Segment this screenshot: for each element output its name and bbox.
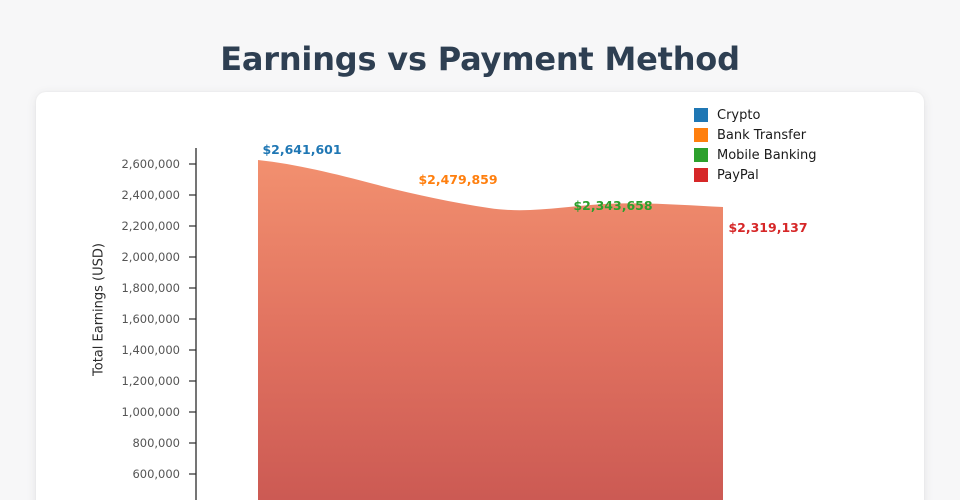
- legend-item-paypal[interactable]: PayPal: [694, 165, 914, 185]
- legend-swatch-icon: [694, 148, 708, 162]
- y-tick-label: 1,400,000: [60, 343, 180, 357]
- y-axis-tick-labels: 2,600,000 2,400,000 2,200,000 2,000,000 …: [48, 92, 180, 500]
- legend-item-bank-transfer[interactable]: Bank Transfer: [694, 125, 914, 145]
- chart-card: 2,600,000 2,400,000 2,200,000 2,000,000 …: [36, 92, 924, 500]
- y-axis-title: Total Earnings (USD): [92, 220, 107, 400]
- legend-label: Bank Transfer: [717, 128, 806, 143]
- data-label-paypal: $2,319,137: [728, 220, 807, 235]
- legend-label: Mobile Banking: [717, 148, 817, 163]
- y-tick-label: 800,000: [60, 436, 180, 450]
- legend-swatch-icon: [694, 168, 708, 182]
- page-title: Earnings vs Payment Method: [0, 40, 960, 78]
- legend-swatch-icon: [694, 128, 708, 142]
- y-tick-label: 1,000,000: [60, 405, 180, 419]
- y-tick-label: 2,000,000: [60, 250, 180, 264]
- legend-item-mobile-banking[interactable]: Mobile Banking: [694, 145, 914, 165]
- data-label-bank-transfer: $2,479,859: [418, 172, 497, 187]
- y-tick-label: 1,800,000: [60, 281, 180, 295]
- y-tick-label: 2,200,000: [60, 219, 180, 233]
- y-tick-label: 600,000: [60, 467, 180, 481]
- chart-screenshot: Earnings vs Payment Method: [0, 0, 960, 500]
- y-tick-label: 2,600,000: [60, 157, 180, 171]
- legend-label: PayPal: [717, 168, 759, 183]
- data-label-mobile-banking: $2,343,658: [573, 198, 652, 213]
- chart-legend: Crypto Bank Transfer Mobile Banking PayP…: [694, 105, 914, 185]
- y-tick-label: 1,600,000: [60, 312, 180, 326]
- legend-label: Crypto: [717, 108, 760, 123]
- data-label-crypto: $2,641,601: [262, 142, 341, 157]
- y-axis-ticks: [189, 164, 196, 500]
- legend-item-crypto[interactable]: Crypto: [694, 105, 914, 125]
- area-fill: [258, 160, 723, 500]
- y-tick-label: 2,400,000: [60, 188, 180, 202]
- y-tick-label: 1,200,000: [60, 374, 180, 388]
- plot-area: 2,600,000 2,400,000 2,200,000 2,000,000 …: [36, 92, 924, 500]
- legend-swatch-icon: [694, 108, 708, 122]
